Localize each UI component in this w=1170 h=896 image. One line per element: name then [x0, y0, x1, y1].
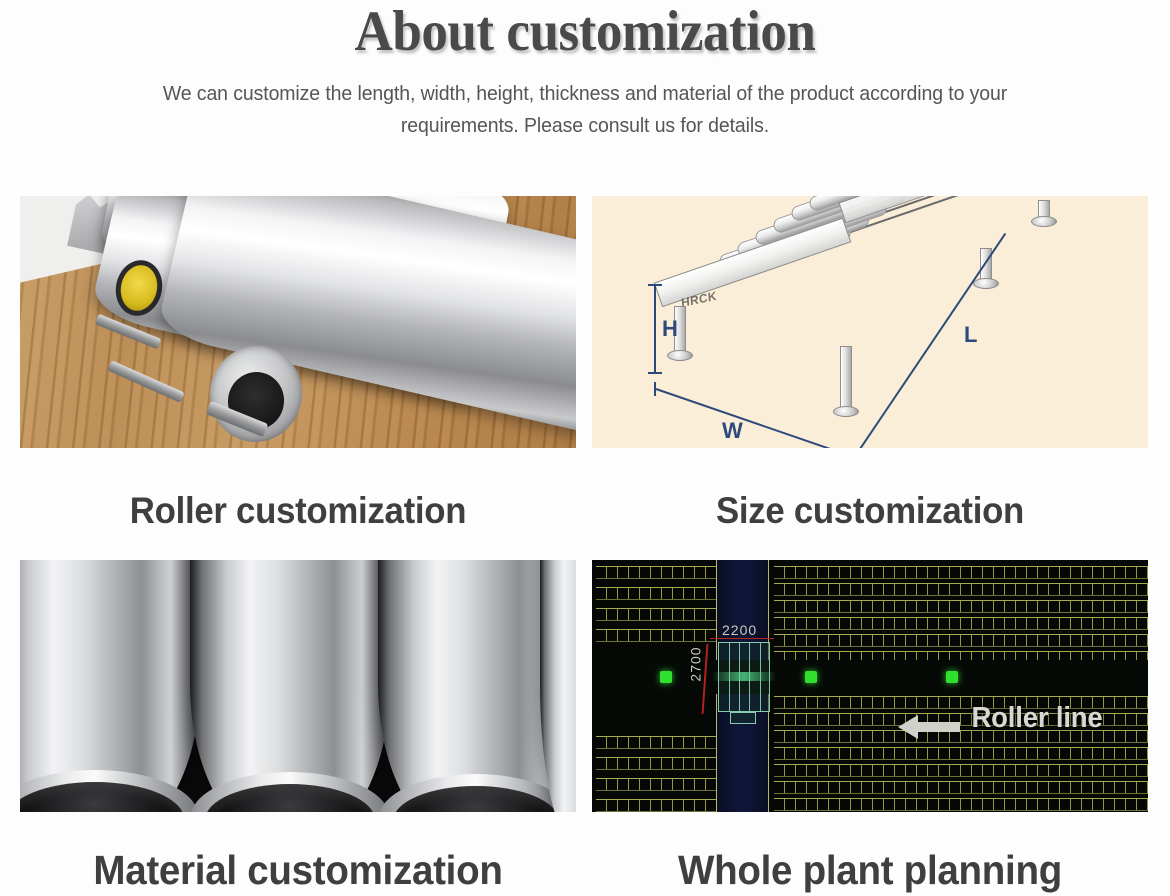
rack-cell — [651, 567, 662, 578]
rack-cell — [961, 697, 972, 708]
rack-cell — [1016, 601, 1027, 612]
rack-cell — [983, 765, 994, 776]
rack-cell — [840, 618, 851, 629]
rack-cell — [1049, 765, 1060, 776]
rack-cell — [862, 618, 873, 629]
rack-cell — [1137, 799, 1148, 810]
rack-cell — [1126, 618, 1137, 629]
rack-cell — [640, 758, 651, 769]
rack-cell — [928, 748, 939, 759]
rack-cell — [1104, 567, 1115, 578]
rack-cell — [1115, 799, 1126, 810]
rack-cell — [1071, 782, 1082, 793]
rack-cell — [983, 635, 994, 646]
rack-cell — [695, 567, 706, 578]
rack-cell — [796, 601, 807, 612]
rack-cell — [1049, 635, 1060, 646]
rack-cell — [618, 800, 629, 811]
rack-cell — [1093, 567, 1104, 578]
rack-cell — [950, 765, 961, 776]
rack-cell — [862, 714, 873, 725]
rack-cell — [939, 584, 950, 595]
rack-cell — [851, 748, 862, 759]
rack-cell — [1027, 799, 1038, 810]
rack-row — [774, 634, 1148, 647]
rack-cell — [840, 782, 851, 793]
conveyor-machine-tail — [730, 712, 756, 724]
rack-cell — [829, 567, 840, 578]
rack-cell — [994, 748, 1005, 759]
rack-cell — [906, 567, 917, 578]
rack-cell — [1082, 799, 1093, 810]
rack-cell — [873, 601, 884, 612]
rack-cell — [972, 748, 983, 759]
rack-cell — [1071, 567, 1082, 578]
rack-cell — [884, 748, 895, 759]
rack-cell — [1038, 567, 1049, 578]
rack-cell — [917, 765, 928, 776]
rack-cell — [1126, 799, 1137, 810]
rack-cell — [640, 588, 651, 599]
rack-cell — [895, 618, 906, 629]
rack-cell — [774, 601, 785, 612]
rack-cell — [1016, 782, 1027, 793]
rack-cell — [818, 799, 829, 810]
rack-cell — [906, 584, 917, 595]
rack-cell — [840, 748, 851, 759]
card-label-material: Material customization — [37, 812, 560, 894]
rack-cell — [873, 731, 884, 742]
rack-cell — [596, 779, 607, 790]
rack-cell — [1115, 618, 1126, 629]
rack-cell — [1060, 618, 1071, 629]
rack-cell — [1093, 782, 1104, 793]
rack-cell — [774, 765, 785, 776]
rack-cell — [917, 584, 928, 595]
card-material-customization[interactable]: Material customization — [20, 560, 576, 894]
rack-cell — [1082, 601, 1093, 612]
rack-cell — [884, 714, 895, 725]
rack-cell — [1104, 584, 1115, 595]
rack-cell — [906, 618, 917, 629]
rack-cell — [818, 584, 829, 595]
rack-cell — [950, 782, 961, 793]
rack-cell — [1027, 635, 1038, 646]
rack-cell — [862, 697, 873, 708]
rack-cell — [1093, 635, 1104, 646]
rack-cell — [917, 635, 928, 646]
rack-cell — [1082, 635, 1093, 646]
conveyor-green-strip — [712, 672, 776, 681]
rack-cell — [1093, 601, 1104, 612]
rack-cell — [1038, 799, 1049, 810]
rack-cell — [651, 737, 662, 748]
card-size-customization[interactable]: HRCK H W — [592, 196, 1148, 560]
rack-cell — [950, 799, 961, 810]
rack-cell — [673, 800, 684, 811]
rack-cell — [618, 737, 629, 748]
rack-cell — [1049, 799, 1060, 810]
rack-cell — [662, 609, 673, 620]
rack-cell — [983, 601, 994, 612]
rack-cell — [950, 567, 961, 578]
rack-cell — [618, 758, 629, 769]
rack-cell — [928, 765, 939, 776]
rack-cell — [917, 799, 928, 810]
rack-cell — [785, 799, 796, 810]
rack-cell — [840, 765, 851, 776]
rack-cell — [851, 731, 862, 742]
rack-cell — [818, 731, 829, 742]
dimension-label-height: H — [662, 316, 678, 342]
dimension-label-length: L — [964, 322, 977, 348]
card-label-roller: Roller customization — [37, 448, 560, 560]
rack-cell — [785, 697, 796, 708]
dimension-tick-width-left — [654, 382, 656, 396]
rack-cell — [1071, 799, 1082, 810]
rack-cell — [684, 800, 695, 811]
rack-cell — [695, 588, 706, 599]
rack-cell — [939, 697, 950, 708]
rack-cell — [829, 731, 840, 742]
rack-cell — [851, 635, 862, 646]
rack-cell — [873, 765, 884, 776]
rack-cell — [796, 799, 807, 810]
rack-cell — [1104, 731, 1115, 742]
rack-cell — [1016, 584, 1027, 595]
rack-cell — [818, 567, 829, 578]
rack-cell — [1115, 782, 1126, 793]
rack-cell — [596, 737, 607, 748]
customization-card-grid: Roller customization HRCK — [20, 196, 1150, 894]
rack-cell — [596, 588, 607, 599]
dimension-label-width: W — [722, 418, 743, 444]
rack-cell — [928, 697, 939, 708]
rack-cell — [884, 618, 895, 629]
rack-cell — [796, 748, 807, 759]
rack-cell — [862, 635, 873, 646]
rack-cell — [774, 697, 785, 708]
size-diagram: HRCK H W — [592, 196, 1148, 448]
rack-cell — [640, 567, 651, 578]
rack-cell — [840, 601, 851, 612]
rack-cell — [684, 630, 695, 641]
rack-cell — [961, 714, 972, 725]
conveyor-foot-1 — [667, 350, 693, 361]
rack-cell — [983, 782, 994, 793]
rack-cell — [629, 630, 640, 641]
rack-cell — [618, 588, 629, 599]
rack-cell — [695, 630, 706, 641]
rack-cell — [684, 567, 695, 578]
rack-cell — [1027, 567, 1038, 578]
rack-cell — [851, 799, 862, 810]
rack-cell — [862, 567, 873, 578]
rack-cell — [862, 782, 873, 793]
rack-cell — [662, 758, 673, 769]
rack-cell — [884, 765, 895, 776]
rack-row — [596, 608, 717, 621]
rack-cell — [1016, 748, 1027, 759]
rack-cell — [961, 765, 972, 776]
rack-cell — [1049, 601, 1060, 612]
rack-cell — [673, 588, 684, 599]
rack-cell — [840, 567, 851, 578]
rack-cell — [1071, 584, 1082, 595]
rack-cell — [895, 799, 906, 810]
rack-cell — [1038, 782, 1049, 793]
rack-cell — [607, 588, 618, 599]
rack-cell — [994, 635, 1005, 646]
card-label-size: Size customization — [609, 448, 1132, 560]
rack-cell — [939, 567, 950, 578]
rack-cell — [1060, 765, 1071, 776]
rack-cell — [596, 800, 607, 811]
rack-cell — [851, 584, 862, 595]
rack-cell — [906, 765, 917, 776]
rack-cell — [785, 714, 796, 725]
rack-cell — [829, 748, 840, 759]
roller-line-callout: Roller line — [971, 702, 1102, 735]
rack-cell — [1093, 584, 1104, 595]
dimension-line-width — [656, 388, 846, 448]
rack-cell — [983, 748, 994, 759]
rack-cell — [994, 601, 1005, 612]
rack-cell — [695, 800, 706, 811]
rack-cell — [1016, 799, 1027, 810]
rack-cell — [1027, 601, 1038, 612]
rack-cell — [972, 635, 983, 646]
rack-cell — [1137, 584, 1148, 595]
rack-cell — [774, 584, 785, 595]
rack-cell — [1104, 714, 1115, 725]
rack-cell — [939, 782, 950, 793]
rack-cell — [651, 609, 662, 620]
rack-cell — [840, 731, 851, 742]
rack-row — [596, 778, 717, 791]
rack-cell — [1115, 567, 1126, 578]
rack-cell — [807, 782, 818, 793]
rack-cell — [785, 601, 796, 612]
horizontal-aisle — [592, 660, 1148, 694]
rack-cell — [807, 601, 818, 612]
rack-cell — [972, 799, 983, 810]
rack-cell — [950, 748, 961, 759]
rack-cell — [1005, 635, 1016, 646]
rack-cell — [785, 765, 796, 776]
rack-cell — [596, 758, 607, 769]
rack-cell — [950, 618, 961, 629]
rack-cell — [1104, 601, 1115, 612]
rack-cell — [928, 635, 939, 646]
rack-cell — [1027, 748, 1038, 759]
rack-cell — [829, 635, 840, 646]
rack-cell — [1038, 584, 1049, 595]
rack-cell — [895, 748, 906, 759]
rack-cell — [596, 609, 607, 620]
rack-cell — [862, 601, 873, 612]
rack-cell — [695, 609, 706, 620]
rack-cell — [961, 567, 972, 578]
rack-cell — [662, 630, 673, 641]
rack-cell — [1137, 782, 1148, 793]
customization-page: About customization We can customize the… — [0, 0, 1170, 896]
rack-cell — [607, 800, 618, 811]
rack-cell — [1071, 635, 1082, 646]
page-title: About customization — [41, 2, 1129, 62]
rack-cell — [895, 635, 906, 646]
rack-cell — [629, 800, 640, 811]
rack-cell — [1137, 635, 1148, 646]
rack-cell — [873, 697, 884, 708]
rack-cell — [607, 758, 618, 769]
rack-cell — [994, 567, 1005, 578]
rack-cell — [829, 799, 840, 810]
rack-cell — [873, 748, 884, 759]
rack-cell — [1126, 584, 1137, 595]
rack-cell — [1093, 618, 1104, 629]
rack-cell — [928, 601, 939, 612]
rack-cell — [1049, 584, 1060, 595]
rack-cell — [818, 782, 829, 793]
rack-cell — [906, 748, 917, 759]
marker-dot-2 — [805, 671, 817, 683]
rack-cell — [673, 630, 684, 641]
rack-cell — [684, 758, 695, 769]
rack-cell — [1005, 799, 1016, 810]
rack-cell — [1049, 748, 1060, 759]
steel-tube-2 — [190, 560, 390, 812]
rack-row — [774, 747, 1148, 760]
rack-cell — [862, 584, 873, 595]
rack-cell — [895, 567, 906, 578]
rack-row — [596, 757, 717, 770]
rack-cell — [1126, 765, 1137, 776]
rack-cell — [607, 737, 618, 748]
rack-cell — [796, 697, 807, 708]
rack-cell — [1126, 782, 1137, 793]
rack-cell — [774, 731, 785, 742]
rack-cell — [785, 748, 796, 759]
rack-cell — [950, 584, 961, 595]
rack-cell — [1038, 748, 1049, 759]
rack-cell — [873, 782, 884, 793]
rack-cell — [1016, 635, 1027, 646]
rack-cell — [928, 799, 939, 810]
rack-row — [774, 600, 1148, 613]
rack-cell — [961, 635, 972, 646]
rack-cell — [895, 584, 906, 595]
rack-cell — [972, 584, 983, 595]
rack-cell — [884, 567, 895, 578]
dimension-value-2700: 2700 — [688, 646, 704, 681]
rack-cell — [862, 765, 873, 776]
rack-cell — [928, 618, 939, 629]
rack-cell — [1027, 782, 1038, 793]
rack-row — [774, 617, 1148, 630]
marker-dot-1 — [660, 671, 672, 683]
rack-cell — [939, 601, 950, 612]
rack-cell — [651, 758, 662, 769]
card-whole-plant-planning[interactable]: 2200 2700 Roller line Whole plant planni… — [592, 560, 1148, 894]
rack-cell — [917, 601, 928, 612]
dimension-line-2200 — [710, 638, 774, 639]
rack-cell — [1137, 697, 1148, 708]
rack-cell — [596, 630, 607, 641]
rack-cell — [1082, 618, 1093, 629]
rack-cell — [829, 765, 840, 776]
rack-row — [596, 799, 717, 812]
rack-cell — [1060, 567, 1071, 578]
rack-cell — [684, 737, 695, 748]
rack-cell — [939, 799, 950, 810]
rack-cell — [840, 697, 851, 708]
card-roller-customization[interactable]: Roller customization — [20, 196, 576, 560]
rack-cell — [1137, 731, 1148, 742]
rack-cell — [1104, 697, 1115, 708]
rack-cell — [961, 782, 972, 793]
rack-cell — [895, 601, 906, 612]
rack-cell — [774, 748, 785, 759]
rack-cell — [829, 618, 840, 629]
rack-cell — [884, 799, 895, 810]
rack-cell — [785, 782, 796, 793]
rack-cell — [662, 588, 673, 599]
rack-cell — [1082, 765, 1093, 776]
rack-cell — [818, 601, 829, 612]
rack-cell — [651, 588, 662, 599]
rack-cell — [607, 609, 618, 620]
rack-cell — [917, 697, 928, 708]
rack-cell — [994, 799, 1005, 810]
rack-cell — [1038, 601, 1049, 612]
rack-cell — [695, 758, 706, 769]
rack-cell — [906, 799, 917, 810]
rack-cell — [829, 697, 840, 708]
rack-cell — [1027, 765, 1038, 776]
rack-cell — [1082, 782, 1093, 793]
rack-cell — [1104, 748, 1115, 759]
rack-cell — [807, 765, 818, 776]
rack-cell — [873, 799, 884, 810]
rack-cell — [917, 782, 928, 793]
rack-row — [774, 583, 1148, 596]
rack-cell — [983, 799, 994, 810]
rack-cell — [796, 567, 807, 578]
rack-cell — [983, 618, 994, 629]
rack-cell — [1115, 601, 1126, 612]
rack-cell — [1005, 567, 1016, 578]
rack-cell — [1060, 601, 1071, 612]
rack-cell — [785, 618, 796, 629]
rack-cell — [651, 779, 662, 790]
rack-cell — [1104, 635, 1115, 646]
rack-cell — [994, 765, 1005, 776]
rack-cell — [1093, 799, 1104, 810]
rack-cell — [1071, 618, 1082, 629]
rack-cell — [862, 731, 873, 742]
rack-cell — [884, 601, 895, 612]
rack-cell — [629, 737, 640, 748]
rack-cell — [1115, 748, 1126, 759]
rack-cell — [796, 765, 807, 776]
rack-cell — [807, 697, 818, 708]
rack-cell — [774, 782, 785, 793]
rack-cell — [873, 635, 884, 646]
steel-tube-1 — [20, 560, 200, 812]
rack-cell — [618, 609, 629, 620]
rack-cell — [774, 714, 785, 725]
